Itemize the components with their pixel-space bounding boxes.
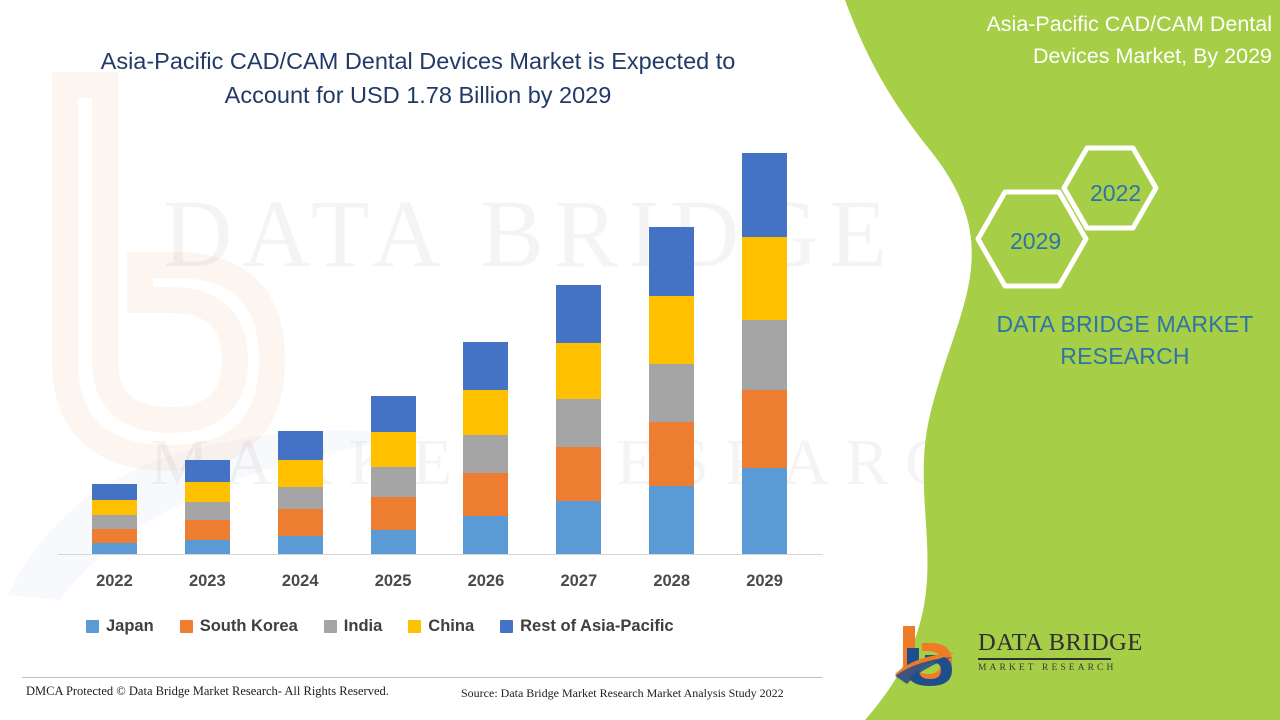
bar-segment-india [463,435,508,473]
legend-item-south-korea[interactable]: South Korea [180,617,298,636]
stacked-bar-chart [50,150,825,560]
bar-2023 [185,460,230,554]
hexagon-badges: 2022 2029 [975,140,1205,290]
bar-segment-rest-of-asia-pacific [649,227,694,296]
bar-segment-china [371,432,416,467]
bar-2022 [92,484,137,554]
footer-divider [22,677,822,678]
hex-badge-2029-label: 2029 [1010,228,1061,255]
x-axis-label-2027: 2027 [532,572,625,591]
data-bridge-logo: DATA BRIDGE MARKET RESEARCH [893,620,1108,690]
bar-segment-india [742,320,787,391]
bar-segment-japan [185,540,230,554]
bar-segment-japan [556,501,601,554]
hex-badge-2022-label: 2022 [1090,180,1141,207]
bar-segment-japan [92,543,137,554]
x-axis-label-2023: 2023 [161,572,254,591]
data-bridge-b-mark-icon [893,622,971,688]
bar-segment-rest-of-asia-pacific [278,431,323,460]
footer-copyright: DMCA Protected © Data Bridge Market Rese… [26,684,389,699]
logo-text-block: DATA BRIDGE MARKET RESEARCH [978,629,1113,673]
bar-segment-india [556,399,601,447]
legend-label: Rest of Asia-Pacific [520,617,673,636]
bar-2024 [278,431,323,554]
chart-legend: JapanSouth KoreaIndiaChinaRest of Asia-P… [86,617,674,636]
x-axis-line [58,554,823,555]
page-title: Asia-Pacific CAD/CAM Dental Devices Mark… [58,44,778,112]
bar-segment-china [742,237,787,319]
bar-segment-china [185,482,230,503]
bar-segment-india [278,487,323,510]
legend-item-india[interactable]: India [324,617,383,636]
bar-segment-south-korea [278,509,323,535]
legend-swatch-icon [180,620,193,633]
bar-segment-china [463,390,508,435]
infographic-canvas: DATA BRIDGE MARKET RESEARCH Asia-Pacific… [0,0,1280,720]
bar-segment-rest-of-asia-pacific [556,285,601,343]
legend-swatch-icon [324,620,337,633]
legend-label: India [344,617,383,636]
bar-segment-china [556,343,601,399]
legend-label: South Korea [200,617,298,636]
bar-2027 [556,285,601,554]
bar-segment-japan [278,536,323,554]
bar-segment-rest-of-asia-pacific [185,460,230,482]
x-axis-label-2026: 2026 [440,572,533,591]
legend-item-rest-of-asia-pacific[interactable]: Rest of Asia-Pacific [500,617,673,636]
bar-segment-south-korea [92,529,137,543]
bar-segment-china [92,500,137,515]
panel-brand-line-2: RESEARCH [975,340,1275,372]
legend-swatch-icon [86,620,99,633]
bar-segment-japan [742,468,787,554]
x-axis-label-2029: 2029 [718,572,811,591]
legend-label: Japan [106,617,154,636]
bar-segment-japan [649,486,694,554]
bar-segment-south-korea [649,422,694,486]
x-axis-labels: 20222023202420252026202720282029 [50,572,825,596]
bar-2029 [742,153,787,554]
chart-plot-area [50,150,825,555]
legend-swatch-icon [408,620,421,633]
bar-segment-china [649,296,694,363]
legend-item-china[interactable]: China [408,617,474,636]
bar-segment-india [92,515,137,528]
x-axis-label-2022: 2022 [68,572,161,591]
bar-2026 [463,342,508,554]
legend-swatch-icon [500,620,513,633]
bar-segment-india [649,364,694,422]
bar-2025 [371,396,416,554]
panel-brand-name: DATA BRIDGE MARKET RESEARCH [975,308,1275,372]
footer-source: Source: Data Bridge Market Research Mark… [461,686,784,701]
logo-name: DATA BRIDGE [978,629,1113,657]
bar-segment-south-korea [371,497,416,530]
bar-segment-rest-of-asia-pacific [371,396,416,433]
logo-tagline: MARKET RESEARCH [978,663,1113,673]
bar-segment-japan [371,530,416,554]
x-axis-label-2024: 2024 [254,572,347,591]
logo-divider [978,658,1111,660]
bar-segment-india [371,467,416,496]
bar-2028 [649,227,694,554]
bar-segment-rest-of-asia-pacific [92,484,137,500]
bar-segment-india [185,502,230,519]
x-axis-label-2025: 2025 [347,572,440,591]
legend-label: China [428,617,474,636]
bar-segment-south-korea [742,390,787,468]
panel-brand-line-1: DATA BRIDGE MARKET [975,308,1275,340]
bar-segment-japan [463,516,508,554]
legend-item-japan[interactable]: Japan [86,617,154,636]
x-axis-label-2028: 2028 [625,572,718,591]
bar-segment-south-korea [185,520,230,540]
bar-segment-rest-of-asia-pacific [742,153,787,237]
bar-segment-china [278,460,323,487]
bar-segment-rest-of-asia-pacific [463,342,508,389]
panel-title: Asia-Pacific CAD/CAM Dental Devices Mark… [960,8,1272,72]
bar-segment-south-korea [556,447,601,500]
bar-segment-south-korea [463,473,508,516]
hexagon-shapes-icon [975,140,1205,290]
